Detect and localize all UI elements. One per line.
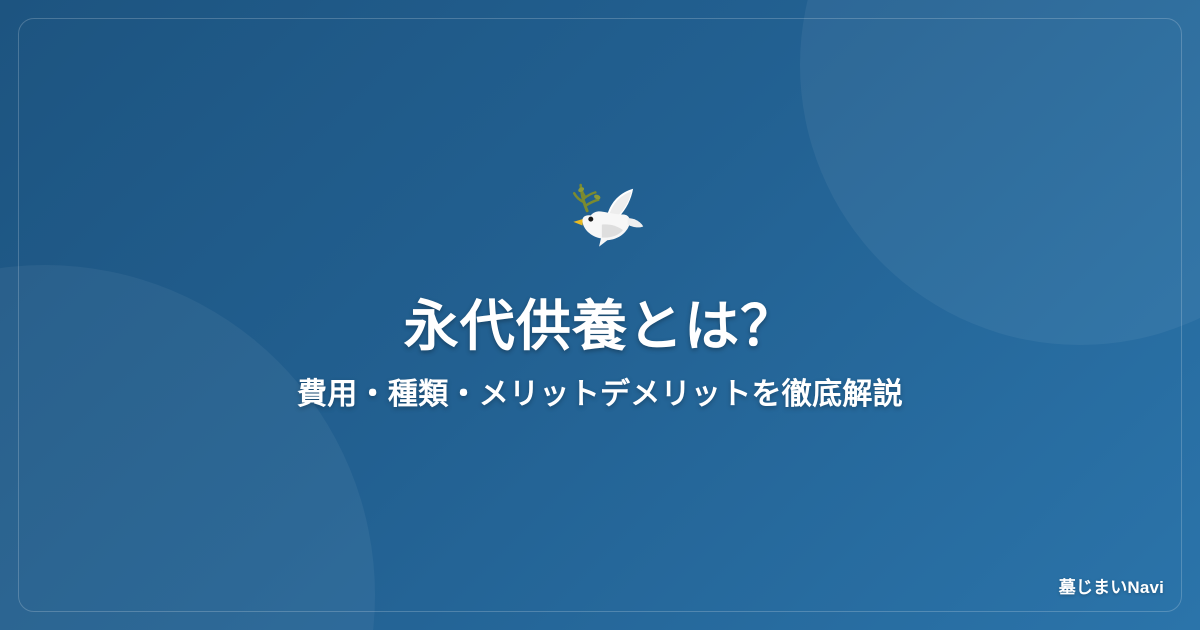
olive-branch-group xyxy=(574,185,601,211)
content-stack: 永代供養とは？ 費用・種類・メリットデメリットを徹底解説 xyxy=(0,0,1200,630)
dove-with-olive-branch-icon xyxy=(554,174,646,266)
page-subtitle: 費用・種類・メリットデメリットを徹底解説 xyxy=(297,375,903,416)
site-logo: 墓じまいNavi xyxy=(1059,573,1164,598)
og-image-card: 永代供養とは？ 費用・種類・メリットデメリットを徹底解説 墓じまいNavi xyxy=(0,0,1200,630)
page-title: 永代供養とは？ xyxy=(404,292,797,361)
